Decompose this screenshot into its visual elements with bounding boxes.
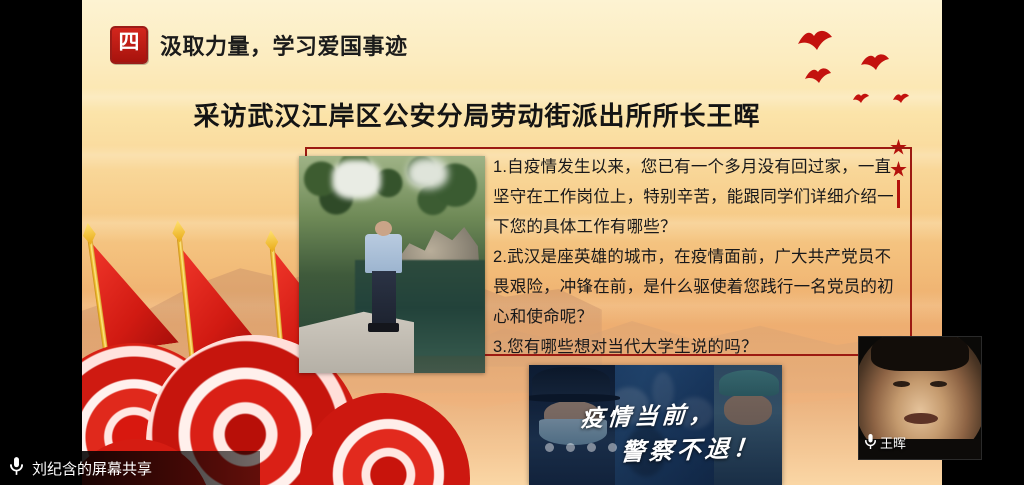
banner-line-2: 警察不退！ bbox=[620, 428, 763, 468]
microphone-icon bbox=[10, 457, 23, 479]
interview-questions: 1.自疫情发生以来，您已有一个多月没有回过家，一直坚守在工作岗位上，特别辛苦，能… bbox=[493, 152, 905, 362]
question-item: 2.武汉是座英雄的城市，在疫情面前，广大共产党员不畏艰险，冲锋在前，是什么驱使着… bbox=[493, 242, 905, 332]
question-item: 1.自疫情发生以来，您已有一个多月没有回过家，一直坚守在工作岗位上，特别辛苦，能… bbox=[493, 152, 905, 242]
banner-photo: 疫情当前， 警察不退！ bbox=[529, 365, 782, 485]
flying-bird-icon bbox=[796, 28, 834, 56]
question-item: 3.您有哪些想对当代大学生说的吗？ bbox=[493, 332, 905, 362]
section-heading: 四 汲取力量，学习爱国事迹 bbox=[110, 26, 408, 64]
section-number-badge: 四 bbox=[110, 26, 148, 64]
microphone-icon bbox=[865, 434, 876, 452]
shared-slide: 四 汲取力量，学习爱国事迹 采访武汉江岸区公安分局劳动街派出所所长王晖 bbox=[82, 0, 942, 485]
red-flag-icon bbox=[88, 229, 184, 357]
participant-video-tile[interactable]: 王晖 bbox=[858, 336, 982, 460]
page-title: 采访武汉江岸区公安分局劳动街派出所所长王晖 bbox=[82, 96, 872, 133]
section-heading-label: 汲取力量，学习爱国事迹 bbox=[160, 29, 408, 61]
participant-name: 王晖 bbox=[880, 433, 906, 452]
flying-bird-icon bbox=[860, 52, 890, 75]
screen-share-status-bar: 刘纪含的屏幕共享 bbox=[0, 451, 260, 485]
screen-share-viewport: 四 汲取力量，学习爱国事迹 采访武汉江岸区公安分局劳动街派出所所长王晖 bbox=[0, 0, 1024, 485]
participant-label: 王晖 bbox=[865, 433, 906, 452]
share-status-label: 刘纪含的屏幕共享 bbox=[32, 458, 152, 479]
banner-dots bbox=[545, 443, 617, 452]
officer-photo bbox=[299, 156, 485, 373]
flying-bird-icon bbox=[892, 92, 910, 106]
flying-bird-icon bbox=[804, 66, 832, 88]
banner-line-1: 疫情当前， bbox=[580, 395, 718, 434]
